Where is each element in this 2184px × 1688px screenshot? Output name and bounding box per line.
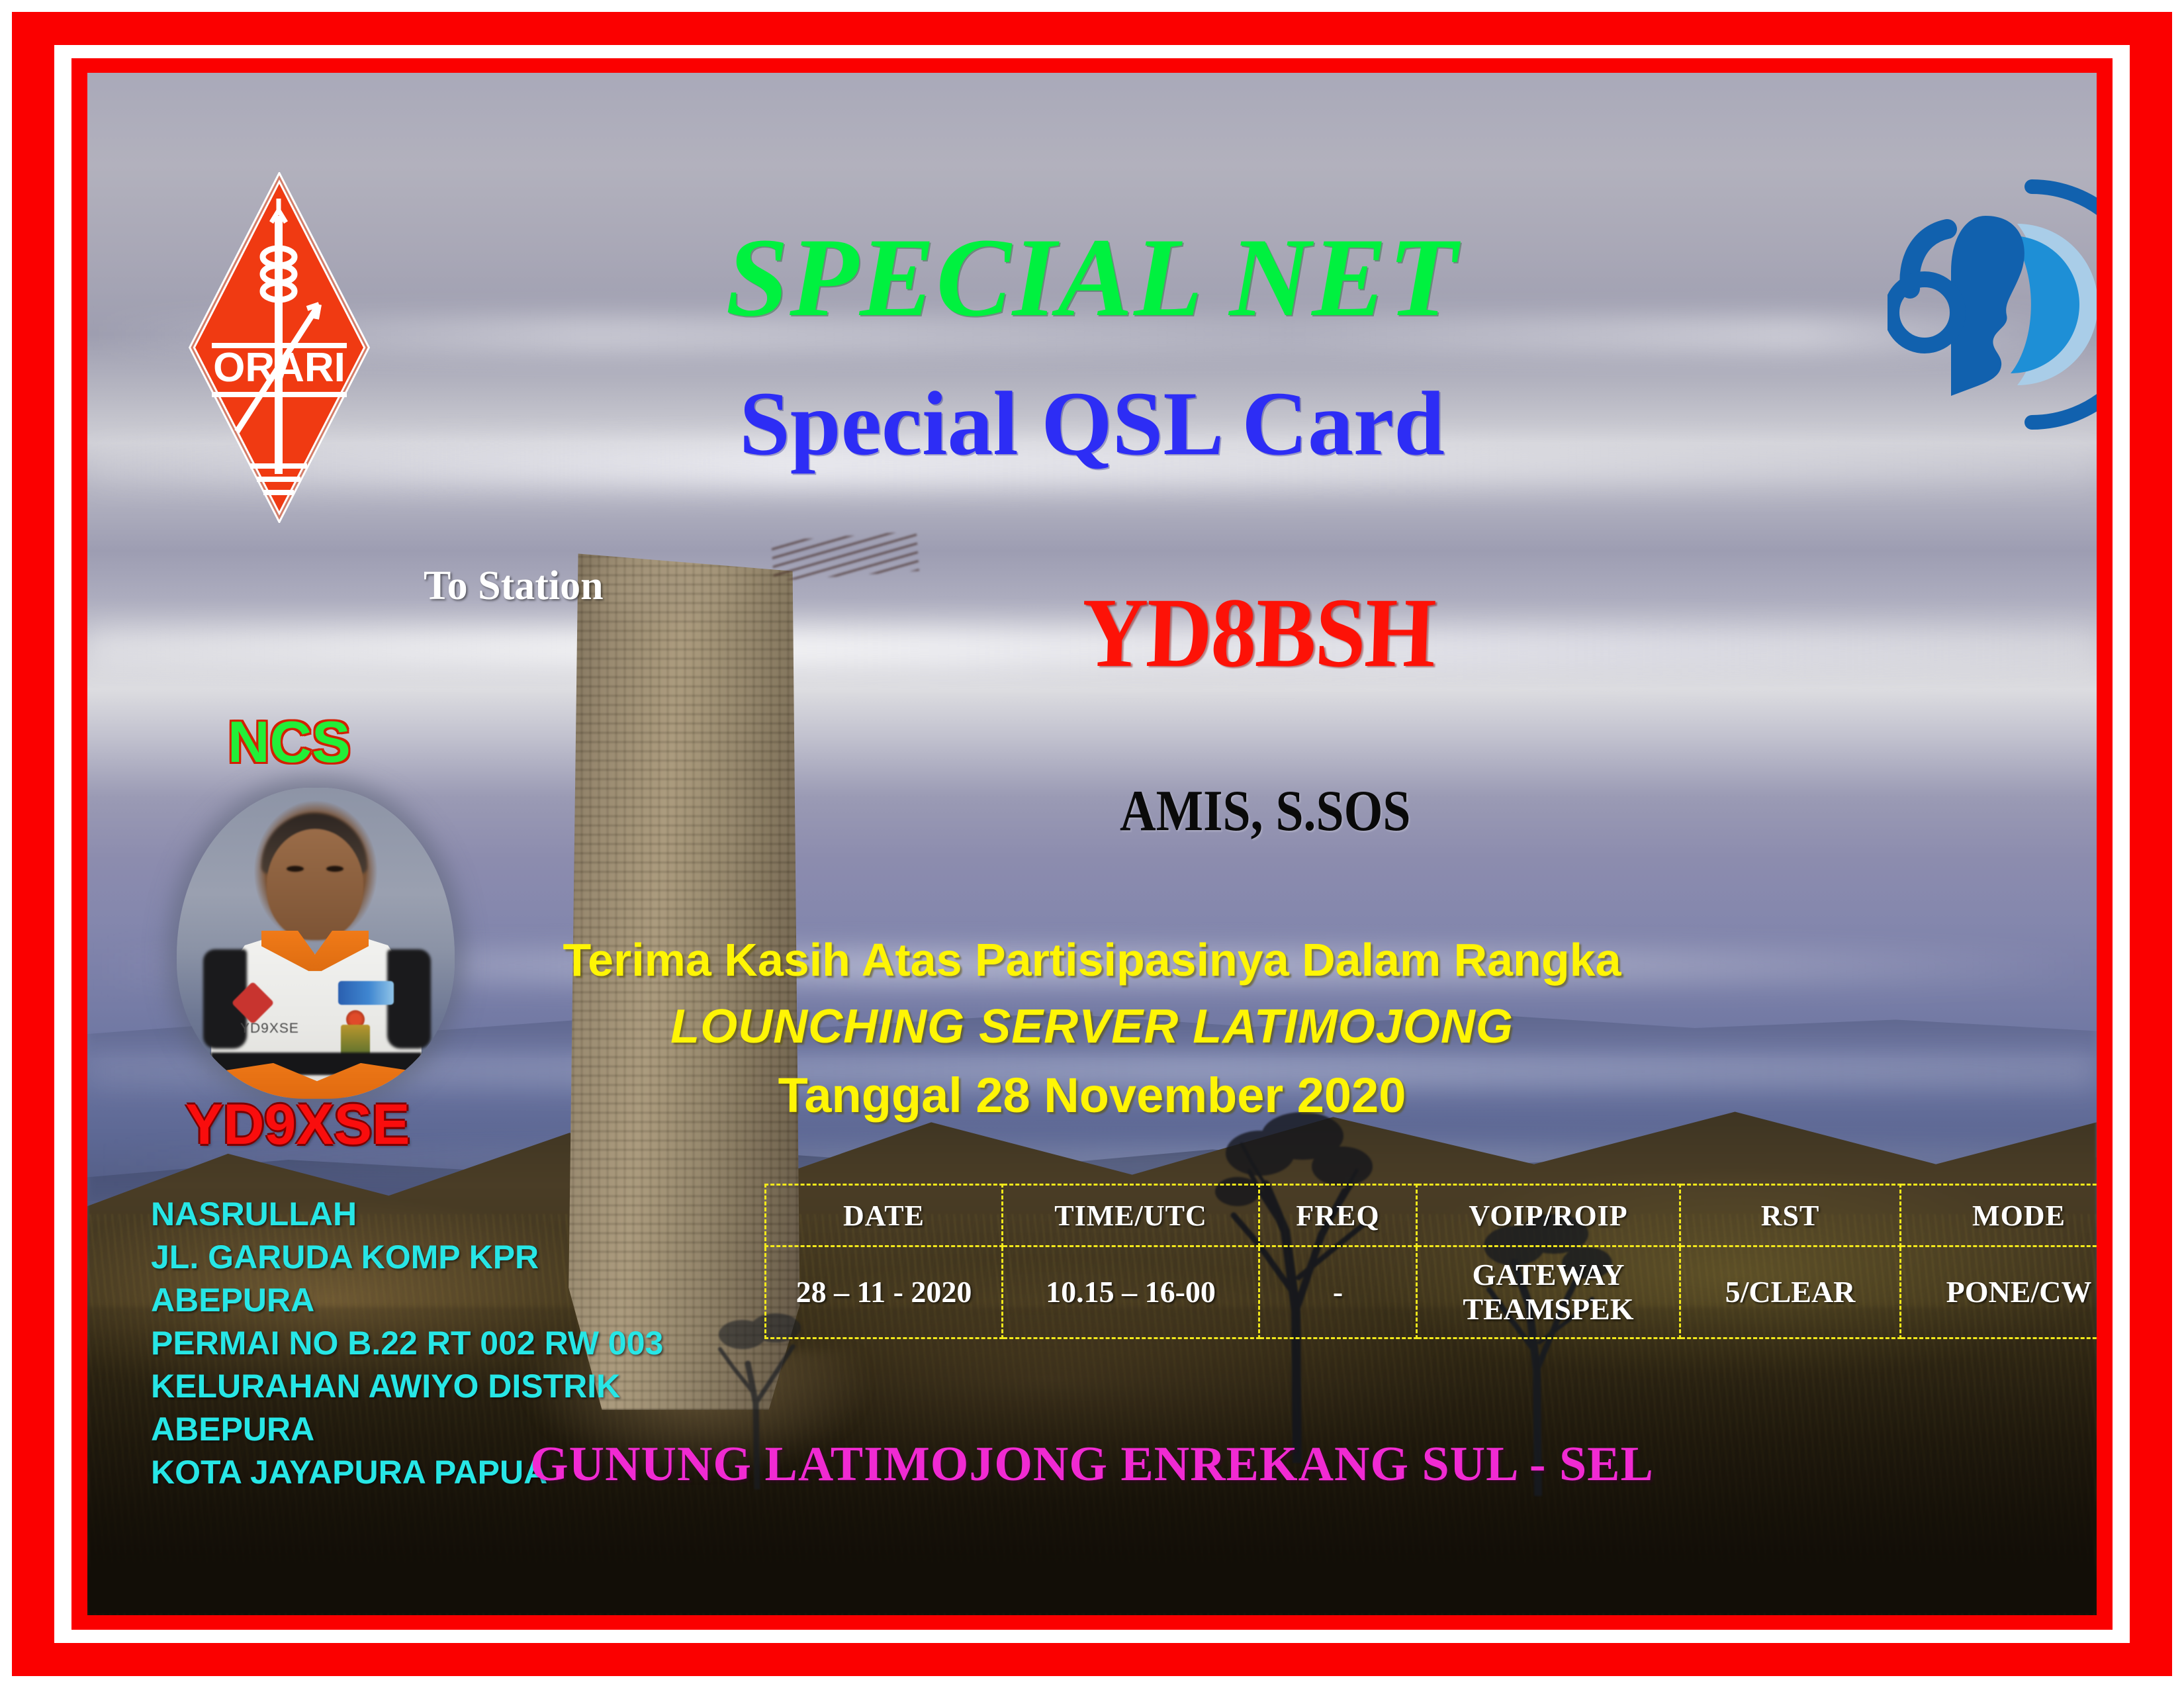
headphone-profile-logo — [1888, 172, 2097, 437]
portrait-eye — [326, 866, 343, 872]
white-frame-gap: ORARI — [54, 45, 2130, 1643]
column-header-mode: MODE — [1901, 1185, 2097, 1246]
address-line: ABEPURA — [151, 1279, 663, 1322]
orari-logo-text: ORARI — [213, 345, 345, 391]
orari-logo: ORARI — [187, 172, 372, 523]
page-title-special-net: SPECIAL NET — [726, 213, 1459, 342]
outer-red-frame: ORARI — [12, 12, 2172, 1676]
cell-voip-line2: TEAMSPEK — [1418, 1292, 1679, 1327]
thanks-message: Terima Kasih Atas Partisipasinya Dalam R… — [563, 933, 1621, 986]
location-line: GUNUNG LATIMOJONG ENREKANG SUL - SEL — [530, 1436, 1654, 1493]
table-row: 28 – 11 - 2020 10.15 – 16-00 - GATEWAY T… — [766, 1246, 2097, 1338]
cell-date: 28 – 11 - 2020 — [766, 1246, 1003, 1338]
recipient-operator-name: AMIS, S.SOS — [1120, 778, 1411, 845]
background-photograph: ORARI — [87, 73, 2097, 1615]
cell-time: 10.15 – 16-00 — [1003, 1246, 1259, 1338]
event-name: LOUNCHING SERVER LATIMOJONG — [670, 1000, 1514, 1054]
portrait-badge-right — [338, 981, 394, 1005]
column-header-date: DATE — [766, 1185, 1003, 1246]
column-header-time: TIME/UTC — [1003, 1185, 1259, 1246]
cell-freq: - — [1259, 1246, 1417, 1338]
column-header-rst: RST — [1680, 1185, 1901, 1246]
to-station-label: To Station — [424, 563, 604, 610]
ncs-callsign: YD9XSE — [185, 1092, 410, 1158]
inner-red-frame: ORARI — [71, 58, 2113, 1630]
cell-rst: 5/CLEAR — [1680, 1246, 1901, 1338]
address-line: NASRULLAH — [151, 1193, 663, 1236]
address-line: PERMAI NO B.22 RT 002 RW 003 — [151, 1322, 663, 1365]
cell-voip-roip: GATEWAY TEAMSPEK — [1417, 1246, 1680, 1338]
recipient-callsign: YD8BSH — [1079, 576, 1436, 690]
ncs-operator-photo: YD9XSE — [177, 788, 455, 1099]
column-header-voip-roip: VOIP/ROIP — [1417, 1185, 1680, 1246]
portrait-eye — [287, 866, 304, 872]
qso-log-table: DATE TIME/UTC FREQ VOIP/ROIP RST MODE 28… — [764, 1184, 2097, 1339]
portrait-uniform-callsign: YD9XSE — [240, 1021, 299, 1037]
ncs-label: NCS — [228, 708, 351, 776]
event-date: Tanggal 28 November 2020 — [778, 1067, 1406, 1123]
address-line: KELURAHAN AWIYO DISTRIK — [151, 1365, 663, 1408]
qsl-card: ORARI — [0, 0, 2184, 1688]
cell-voip-line1: GATEWAY — [1418, 1258, 1679, 1292]
table-header-row: DATE TIME/UTC FREQ VOIP/ROIP RST MODE — [766, 1185, 2097, 1246]
address-line: JL. GARUDA KOMP KPR — [151, 1236, 663, 1279]
page-subtitle-special-qsl-card: Special QSL Card — [739, 371, 1445, 476]
portrait-face — [267, 829, 363, 940]
cell-mode: PONE/CW — [1901, 1246, 2097, 1338]
column-header-freq: FREQ — [1259, 1185, 1417, 1246]
